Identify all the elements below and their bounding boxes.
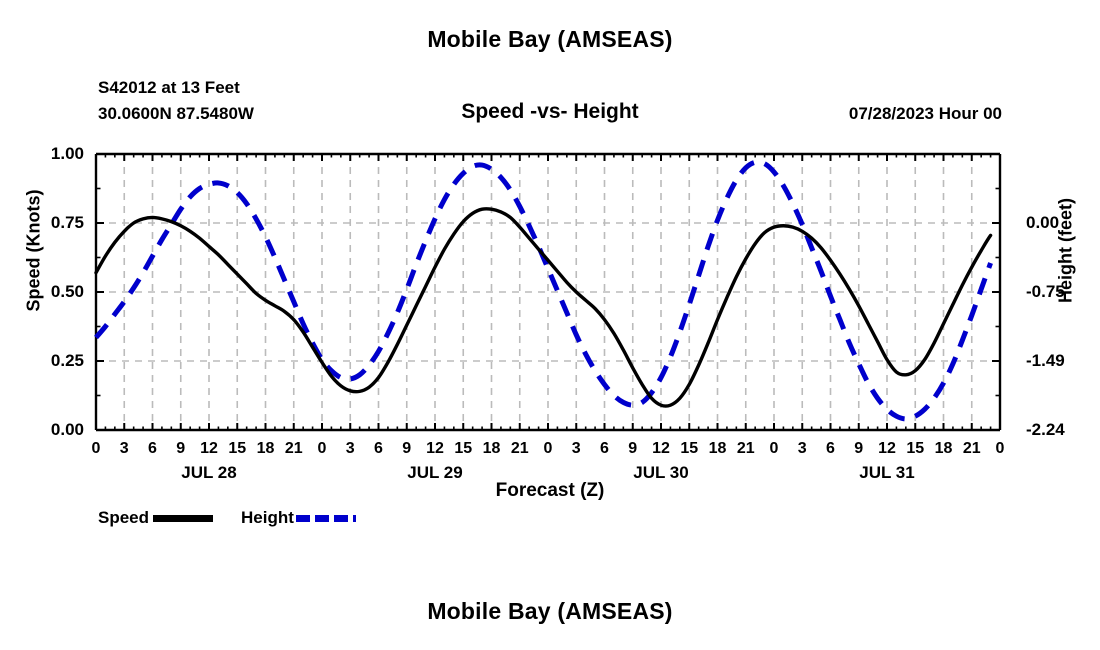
chart-title-bottom: Mobile Bay (AMSEAS) [0,598,1100,625]
legend-item-height: Height [241,508,356,528]
legend-item-speed: Speed [98,508,241,528]
legend-swatch-speed-line [153,515,213,522]
series-line-speed [96,209,991,406]
chart-legend: Speed Height [98,507,356,529]
plot-canvas [0,0,1100,650]
legend-label-speed: Speed [98,508,149,528]
legend-swatch-height-line [296,515,356,522]
chart-figure: Mobile Bay (AMSEAS) S42012 at 13 Feet 30… [0,0,1100,650]
legend-label-height: Height [241,508,294,528]
series-line-height [96,162,991,419]
